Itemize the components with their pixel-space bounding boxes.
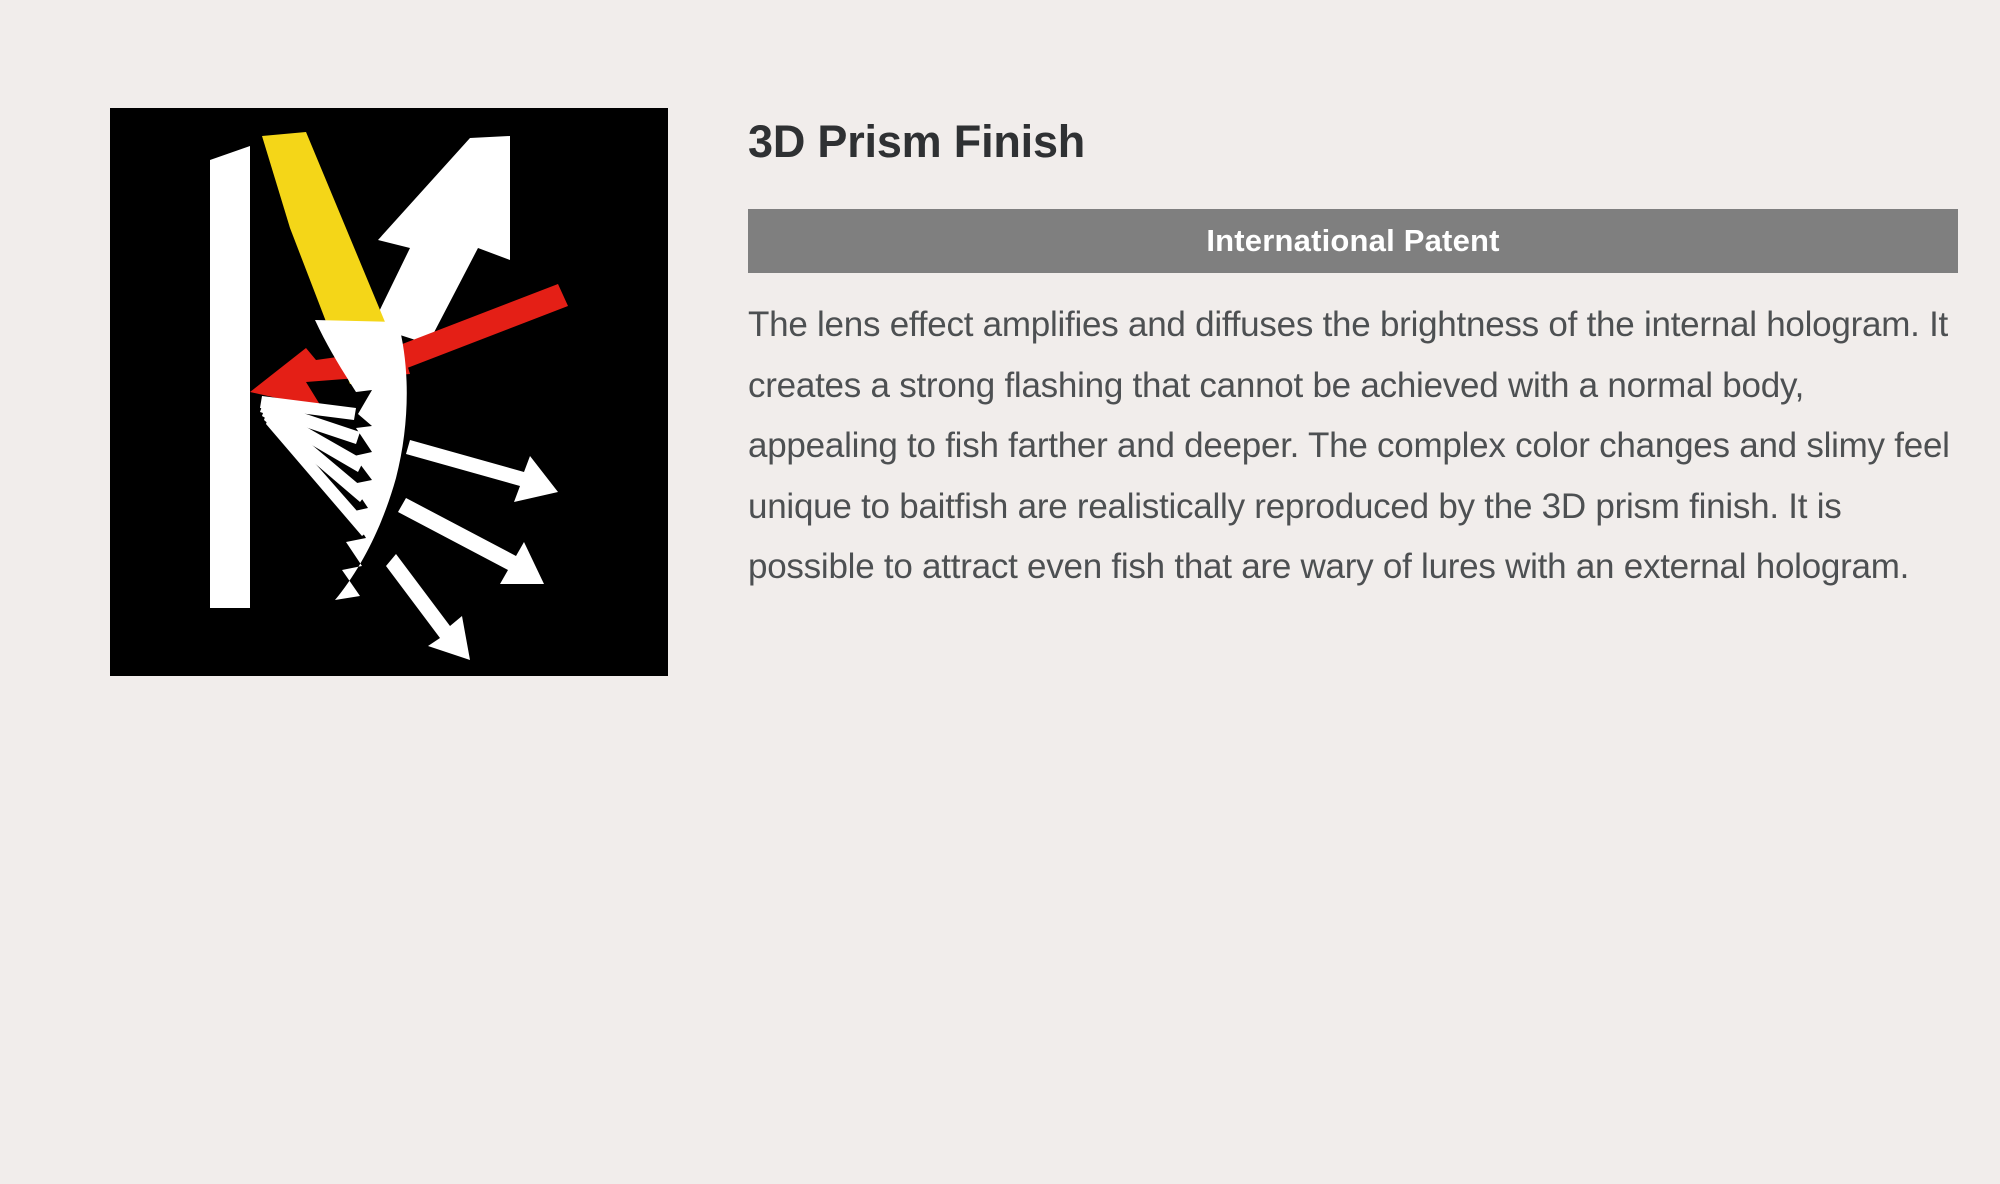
figure-panel [110, 108, 668, 676]
patent-banner: International Patent [748, 209, 1958, 273]
white-wall-bar [210, 146, 250, 608]
product-feature-section: 3D Prism Finish International Patent The… [0, 0, 2000, 1184]
content-panel: 3D Prism Finish International Patent The… [748, 118, 1958, 598]
diagram-image [110, 108, 668, 676]
description-paragraph: The lens effect amplifies and diffuses t… [748, 295, 1963, 598]
patent-banner-label: International Patent [1206, 223, 1499, 259]
page-title: 3D Prism Finish [748, 118, 1958, 165]
prism-light-diagram-illustration [110, 108, 668, 676]
